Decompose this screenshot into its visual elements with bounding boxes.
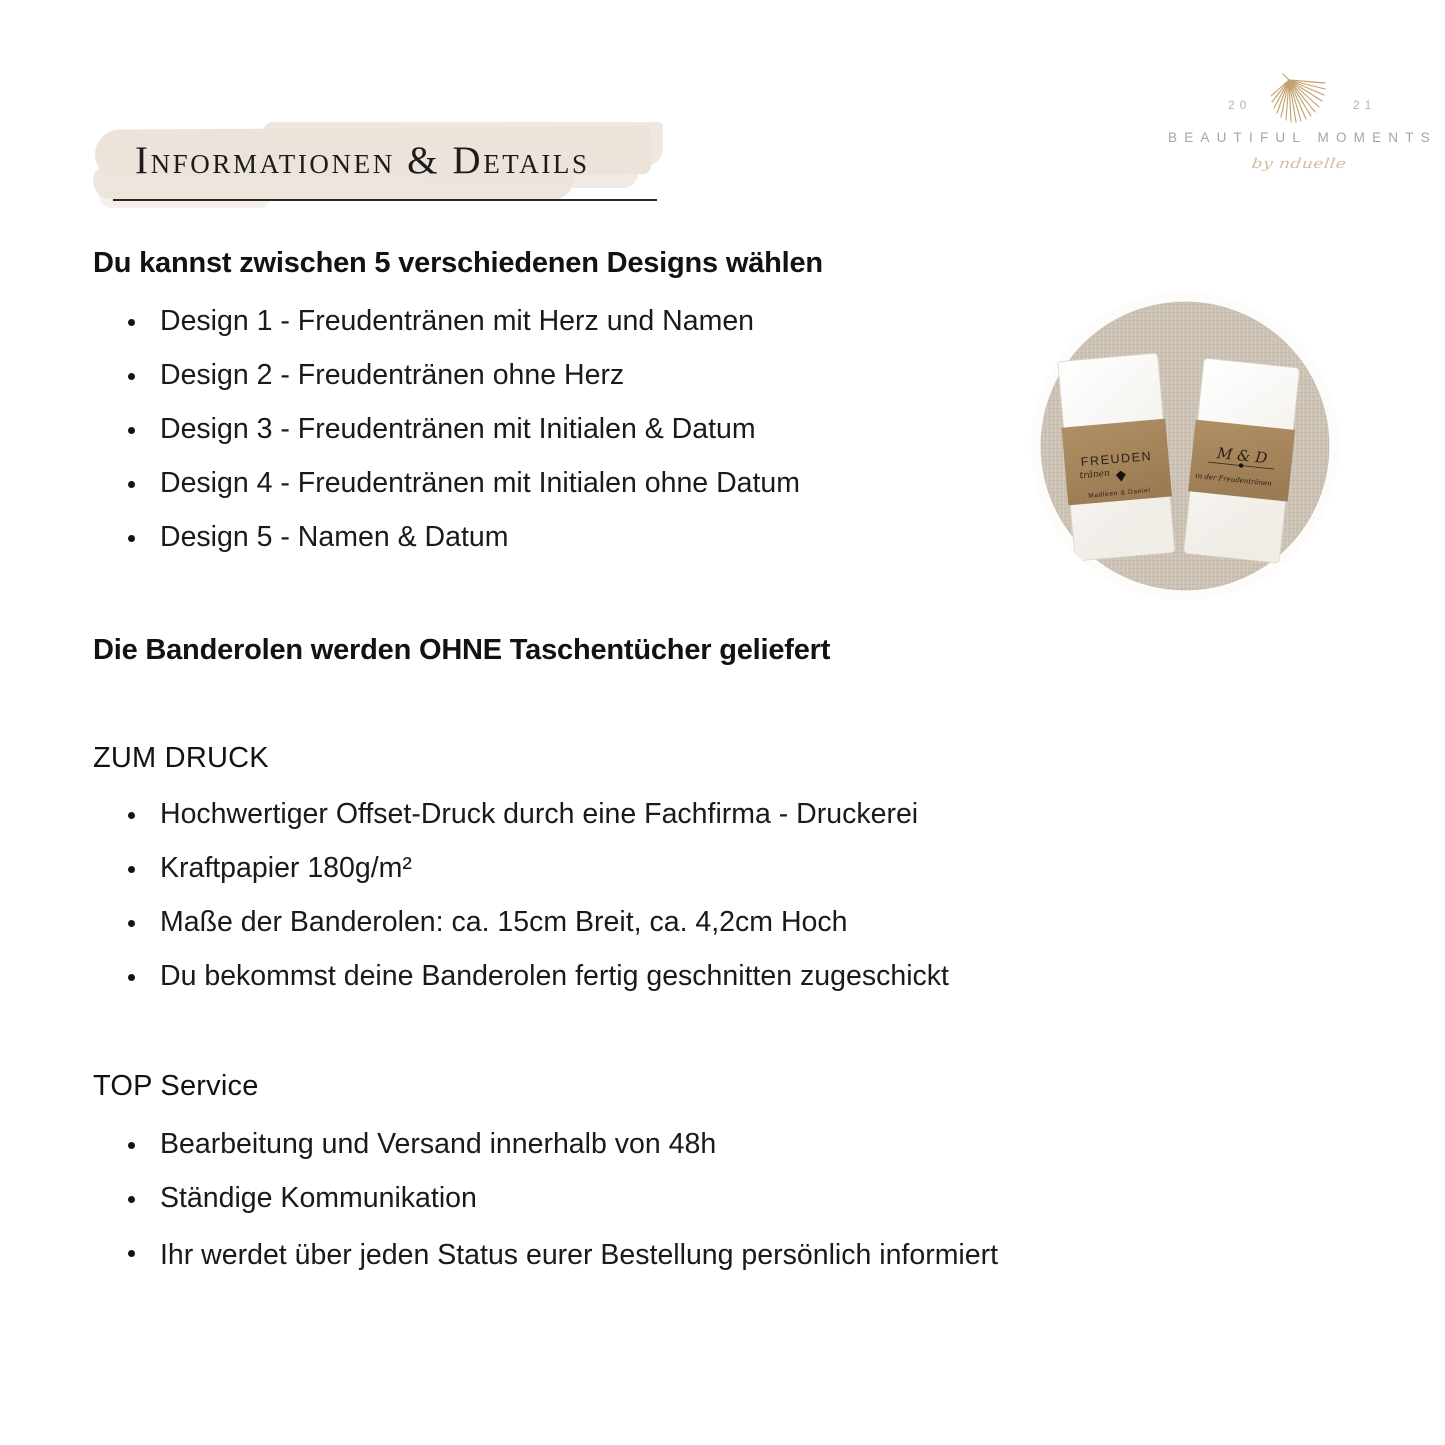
- product-photo-tissue-bands: FREUDEN tränen Madleen & Daniel M & D in…: [1031, 292, 1339, 600]
- list-item: Maße der Banderolen: ca. 15cm Breit, ca.…: [128, 895, 949, 949]
- section-heading-no-tissues: Die Banderolen werden OHNE Taschentücher…: [93, 634, 830, 667]
- list-item: Du bekommst deine Banderolen fertig gesc…: [128, 949, 949, 1003]
- title-underline: [113, 199, 657, 201]
- section-heading-designs: Du kannst zwischen 5 verschiedenen Desig…: [93, 247, 823, 280]
- logo-year-row: 20 21: [1168, 70, 1430, 132]
- section-heading-print: ZUM DRUCK: [93, 742, 269, 775]
- list-item: Design 5 - Namen & Datum: [128, 510, 800, 564]
- list-item: Design 4 - Freudentränen mit Initialen o…: [128, 456, 800, 510]
- list-item: Design 3 - Freudentränen mit Initialen &…: [128, 402, 800, 456]
- list-item: Bearbeitung und Versand innerhalb von 48…: [128, 1117, 1088, 1171]
- list-item: Hochwertiger Offset-Druck durch eine Fac…: [128, 787, 949, 841]
- service-list: Bearbeitung und Versand innerhalb von 48…: [128, 1117, 1088, 1285]
- list-item: Design 2 - Freudentränen ohne Herz: [128, 348, 800, 402]
- logo-brand-name: BEAUTIFUL MOMENTS: [1168, 130, 1430, 145]
- brand-logo: 20 21: [1168, 70, 1430, 200]
- palm-leaf-icon: [1271, 70, 1333, 132]
- list-item: Kraftpapier 180g/m²: [128, 841, 949, 895]
- page-title-block: Informationen & Details: [93, 120, 713, 220]
- designs-list: Design 1 - Freudentränen mit Herz und Na…: [128, 294, 800, 564]
- document-page: 20 21: [0, 0, 1445, 1445]
- logo-year-right: 21: [1353, 98, 1376, 112]
- list-item: Ständige Kommunikation: [128, 1171, 1088, 1225]
- print-list: Hochwertiger Offset-Druck durch eine Fac…: [128, 787, 949, 1003]
- section-heading-service: TOP Service: [93, 1070, 259, 1103]
- brush-stroke-decoration: [99, 186, 269, 208]
- list-item: Ihr werdet über jeden Status eurer Beste…: [128, 1225, 1088, 1285]
- page-title: Informationen & Details: [135, 138, 590, 183]
- logo-signature: by nduelle: [1167, 156, 1431, 172]
- list-item: Design 1 - Freudentränen mit Herz und Na…: [128, 294, 800, 348]
- logo-year-left: 20: [1228, 98, 1251, 112]
